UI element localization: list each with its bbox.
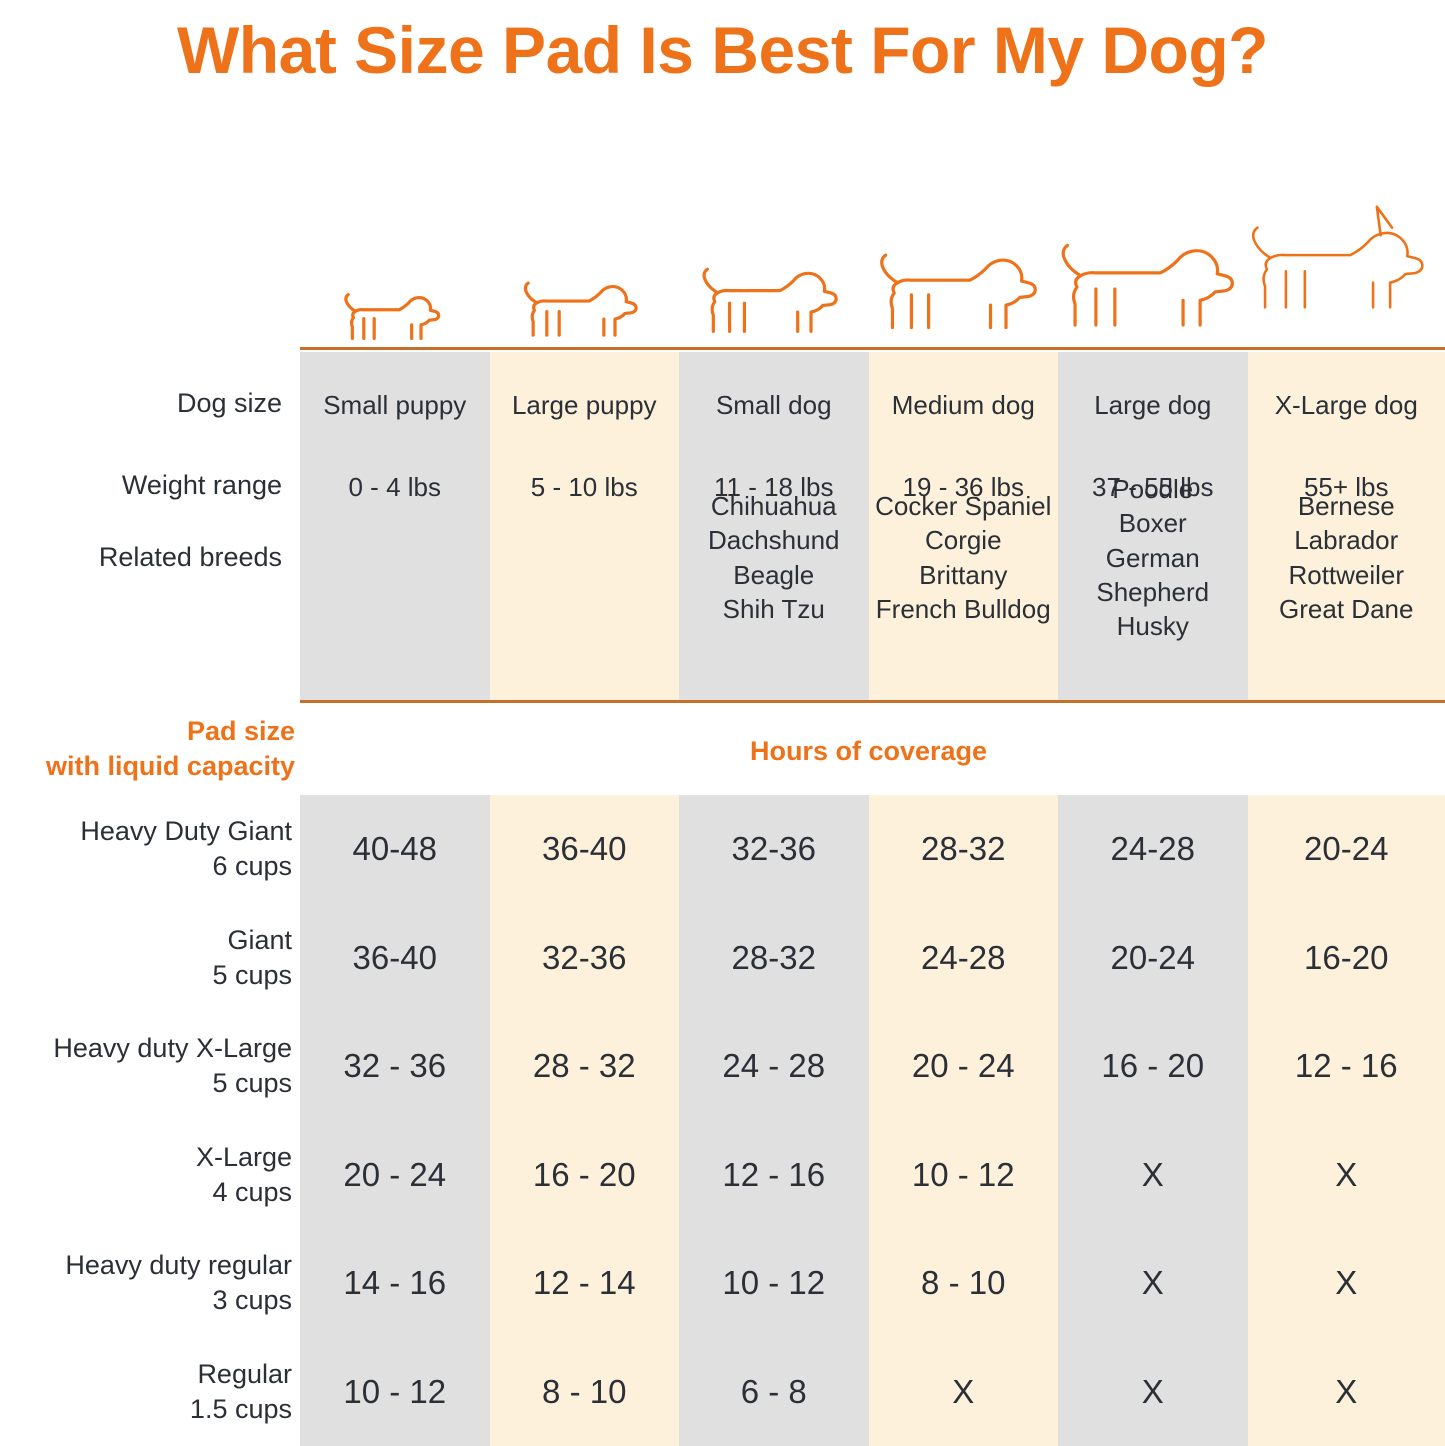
breed-name: Chihuahua	[679, 489, 869, 523]
table-row: Regular1.5 cups10 - 128 - 106 - 8XXX	[0, 1338, 1445, 1446]
cell-dog-size-5: X-Large dog	[1248, 388, 1445, 422]
coverage-cell: 32-36	[490, 904, 680, 1013]
coverage-cell: 28 - 32	[490, 1012, 680, 1121]
dog-silhouette-large-puppy	[490, 262, 680, 355]
row-label-pad-size: Heavy duty X-Large5 cups	[0, 1031, 292, 1101]
coverage-cell: 12 - 16	[679, 1121, 869, 1230]
pad-capacity: 3 cups	[0, 1283, 292, 1318]
coverage-cell: 32 - 36	[300, 1012, 490, 1121]
coverage-cell: 32-36	[679, 795, 869, 904]
pad-size-name: Heavy duty X-Large	[0, 1031, 292, 1066]
table-row: Heavy duty regular3 cups14 - 1612 - 1410…	[0, 1229, 1445, 1338]
table-top-rule	[300, 347, 1445, 350]
breed-name: Corgie	[869, 523, 1059, 557]
cell-dog-size-1: Large puppy	[490, 388, 680, 422]
row-label-pad-size: Heavy Duty Giant6 cups	[0, 814, 292, 884]
coverage-cell: 24 - 28	[679, 1012, 869, 1121]
coverage-cell: X	[1058, 1338, 1248, 1446]
coverage-cell: 40-48	[300, 795, 490, 904]
coverage-cell: 12 - 14	[490, 1229, 680, 1338]
breed-name: Husky	[1058, 609, 1248, 643]
coverage-cell: 36-40	[490, 795, 680, 904]
coverage-cell: 24-28	[869, 904, 1059, 1013]
row-label-pad-size: X-Large4 cups	[0, 1140, 292, 1210]
pad-size-heading-line: Pad size	[0, 714, 295, 749]
coverage-cell: 36-40	[300, 904, 490, 1013]
coverage-cell: 10 - 12	[869, 1121, 1059, 1230]
dog-silhouette-small-puppy	[300, 277, 490, 355]
breed-name: Beagle	[679, 558, 869, 592]
breed-name: French Bulldog	[869, 592, 1059, 626]
pad-capacity: 6 cups	[0, 849, 292, 884]
cell-weight-range-1: 5 - 10 lbs	[490, 470, 680, 504]
pad-size-heading: Pad sizewith liquid capacity	[0, 714, 295, 783]
breed-name: Bernese	[1248, 489, 1445, 523]
coverage-cell: X	[1058, 1229, 1248, 1338]
breed-name: Shih Tzu	[679, 592, 869, 626]
row-label-dog-size: Dog size	[0, 388, 282, 419]
cell-weight-range-0: 0 - 4 lbs	[300, 470, 490, 504]
dog-silhouette-medium-dog	[869, 226, 1059, 355]
row-label-pad-size: Giant5 cups	[0, 923, 292, 993]
coverage-cell: X	[1248, 1229, 1445, 1338]
coverage-cell: 10 - 12	[300, 1338, 490, 1446]
coverage-cell: 28-32	[869, 795, 1059, 904]
breed-name: Rottweiler	[1248, 558, 1445, 592]
table-row: Heavy Duty Giant6 cups40-4836-4032-3628-…	[0, 795, 1445, 904]
coverage-cell: 6 - 8	[679, 1338, 869, 1446]
breed-name: Shepherd	[1058, 575, 1248, 609]
cell-related-breeds-2: ChihuahuaDachshundBeagleShih Tzu	[679, 489, 869, 626]
coverage-cell: 24-28	[1058, 795, 1248, 904]
cell-dog-size-3: Medium dog	[869, 388, 1059, 422]
table-row: Giant5 cups36-4032-3628-3224-2820-2416-2…	[0, 904, 1445, 1013]
breed-name: Dachshund	[679, 523, 869, 557]
pad-capacity: 5 cups	[0, 958, 292, 993]
cell-related-breeds-5: BerneseLabradorRottweilerGreat Dane	[1248, 489, 1445, 626]
coverage-cell: X	[1248, 1338, 1445, 1446]
cell-related-breeds-3: Cocker SpanielCorgieBrittanyFrench Bulld…	[869, 489, 1059, 626]
table-middle-rule	[300, 700, 1445, 703]
coverage-cell: 14 - 16	[300, 1229, 490, 1338]
top-table-grid: Dog sizeWeight rangeRelated breedsSmall …	[0, 352, 1445, 700]
coverage-cell: 8 - 10	[869, 1229, 1059, 1338]
pad-size-name: Regular	[0, 1357, 292, 1392]
coverage-cell: 28-32	[679, 904, 869, 1013]
row-label-pad-size: Regular1.5 cups	[0, 1357, 292, 1427]
breed-name: Poodle	[1058, 472, 1248, 506]
row-label-pad-size: Heavy duty regular3 cups	[0, 1248, 292, 1318]
breed-name: Boxer	[1058, 506, 1248, 540]
row-label-related-breeds: Related breeds	[0, 542, 282, 573]
pad-capacity: 4 cups	[0, 1175, 292, 1210]
breed-name: Brittany	[869, 558, 1059, 592]
table-row: Heavy duty X-Large5 cups32 - 3628 - 3224…	[0, 1012, 1445, 1121]
cell-dog-size-2: Small dog	[679, 388, 869, 422]
dog-silhouette-small-dog	[679, 244, 869, 355]
pad-size-name: Giant	[0, 923, 292, 958]
coverage-cell: 16-20	[1248, 904, 1445, 1013]
pad-size-heading-line: with liquid capacity	[0, 749, 295, 784]
page-title: What Size Pad Is Best For My Dog?	[0, 0, 1445, 100]
coverage-cell: 20-24	[1248, 795, 1445, 904]
coverage-cell: 20 - 24	[869, 1012, 1059, 1121]
cell-related-breeds-4: PoodleBoxerGermanShepherdHusky	[1058, 472, 1248, 644]
coverage-cell: 12 - 16	[1248, 1012, 1445, 1121]
breed-name: Labrador	[1248, 523, 1445, 557]
breed-name: Cocker Spaniel	[869, 489, 1059, 523]
coverage-cell: X	[1248, 1121, 1445, 1230]
breed-name: German	[1058, 541, 1248, 575]
coverage-cell: 10 - 12	[679, 1229, 869, 1338]
coverage-cell: X	[869, 1338, 1059, 1446]
pad-capacity: 1.5 cups	[0, 1392, 292, 1427]
dog-silhouette-strip	[300, 150, 1437, 355]
coverage-cell: 16 - 20	[1058, 1012, 1248, 1121]
pad-size-name: X-Large	[0, 1140, 292, 1175]
pad-capacity: 5 cups	[0, 1066, 292, 1101]
table-row: X-Large4 cups20 - 2416 - 2012 - 1610 - 1…	[0, 1121, 1445, 1230]
coverage-cell: 16 - 20	[490, 1121, 680, 1230]
breed-name: Great Dane	[1248, 592, 1445, 626]
cell-dog-size-0: Small puppy	[300, 388, 490, 422]
dog-silhouette-large-dog	[1058, 213, 1248, 356]
hours-of-coverage-table: Heavy Duty Giant6 cups40-4836-4032-3628-…	[0, 795, 1445, 1446]
coverage-cell: X	[1058, 1121, 1248, 1230]
hours-of-coverage-heading: Hours of coverage	[300, 736, 1437, 767]
row-label-weight-range: Weight range	[0, 470, 282, 501]
pad-size-name: Heavy duty regular	[0, 1248, 292, 1283]
pad-size-name: Heavy Duty Giant	[0, 814, 292, 849]
coverage-cell: 20 - 24	[300, 1121, 490, 1230]
cell-dog-size-4: Large dog	[1058, 388, 1248, 422]
dog-silhouette-xlarge-dog	[1248, 178, 1438, 355]
coverage-cell: 20-24	[1058, 904, 1248, 1013]
coverage-cell: 8 - 10	[490, 1338, 680, 1446]
